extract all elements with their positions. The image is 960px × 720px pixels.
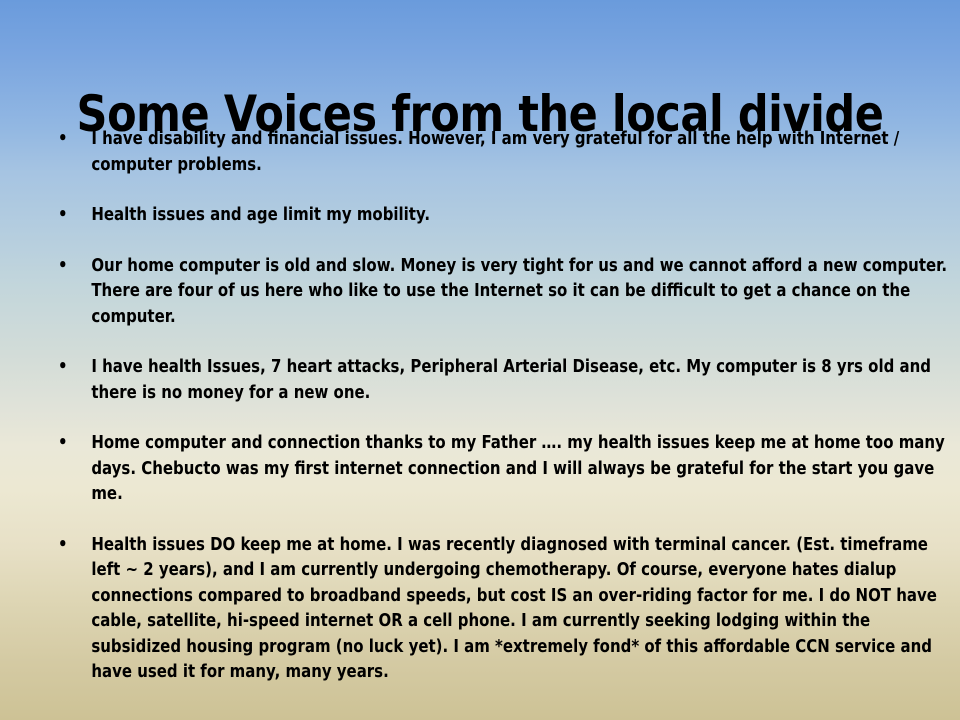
- list-item: • Health issues DO keep me at home. I wa…: [52, 533, 953, 686]
- bullet-list: • I have disability and financial issues…: [52, 127, 914, 686]
- list-item: • Our home computer is old and slow. Mon…: [52, 254, 953, 331]
- bullet-dot-icon: •: [58, 203, 68, 229]
- bullet-dot-icon: •: [58, 355, 68, 381]
- list-item: • Home computer and connection thanks to…: [52, 431, 953, 508]
- bullet-dot-icon: •: [58, 533, 68, 559]
- list-item: • I have disability and financial issues…: [52, 127, 953, 178]
- bullet-dot-icon: •: [58, 127, 68, 153]
- list-item: • Health issues and age limit my mobilit…: [52, 203, 953, 229]
- list-item: • I have health Issues, 7 heart attacks,…: [52, 355, 953, 406]
- list-item-text: Our home computer is old and slow. Money…: [91, 254, 953, 331]
- bullet-dot-icon: •: [58, 254, 68, 280]
- list-item-text: Health issues and age limit my mobility.: [91, 203, 953, 229]
- list-item-text: Health issues DO keep me at home. I was …: [91, 533, 953, 686]
- list-item-text: I have disability and financial issues. …: [91, 127, 953, 178]
- presentation-slide: Some Voices from the local divide • I ha…: [0, 0, 960, 720]
- bullet-dot-icon: •: [58, 431, 68, 457]
- list-item-text: I have health Issues, 7 heart attacks, P…: [91, 355, 953, 406]
- list-item-text: Home computer and connection thanks to m…: [91, 431, 953, 508]
